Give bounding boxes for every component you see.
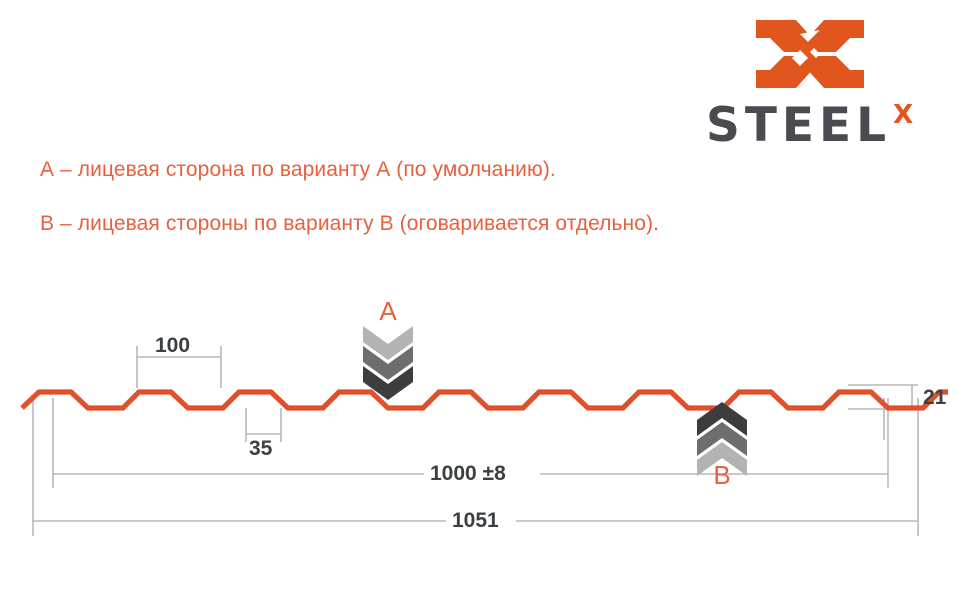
profile-technical-drawing xyxy=(0,0,970,593)
dimension-label-height: 21 xyxy=(923,386,946,410)
dimension-label-valley-width: 35 xyxy=(249,437,272,461)
dimension-label-cover-width: 1000 ±8 xyxy=(430,462,506,486)
drawing-canvas: STEELX А – лицевая сторона по варианту А… xyxy=(0,0,970,593)
marker-b-label: В xyxy=(689,462,755,488)
marker-a: А xyxy=(355,298,421,384)
dimension-label-total-width: 1051 xyxy=(452,509,499,533)
marker-a-label: А xyxy=(355,298,421,324)
chevron-down-icon xyxy=(355,324,421,410)
profile-cross-section-line xyxy=(22,392,948,408)
marker-b: В xyxy=(689,400,755,486)
dimension-label-pitch: 100 xyxy=(155,334,190,358)
